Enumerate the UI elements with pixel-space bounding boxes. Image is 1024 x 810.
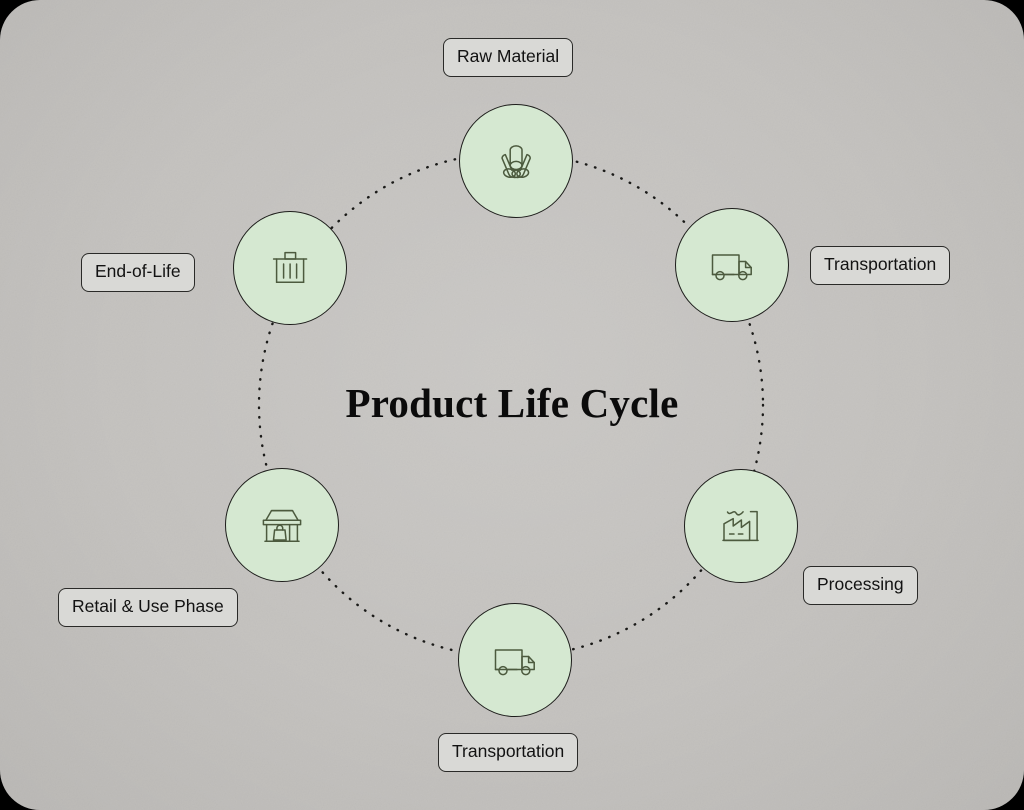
trash-icon	[261, 239, 319, 297]
node-raw-material[interactable]	[459, 104, 573, 218]
diagram-card: Product Life Cycle Raw Material	[0, 0, 1024, 810]
node-retail-use-phase[interactable]	[225, 468, 339, 582]
label-end-of-life: End-of-Life	[81, 253, 195, 292]
storefront-icon	[252, 495, 312, 555]
node-transportation-outbound[interactable]	[458, 603, 572, 717]
label-transportation-inbound: Transportation	[810, 246, 950, 285]
node-transportation-inbound[interactable]	[675, 208, 789, 322]
page-title: Product Life Cycle	[0, 381, 1024, 426]
node-processing[interactable]	[684, 469, 798, 583]
diagram-canvas: Product Life Cycle Raw Material	[0, 0, 1024, 810]
node-end-of-life[interactable]	[233, 211, 347, 325]
factory-icon	[712, 497, 770, 555]
label-raw-material: Raw Material	[443, 38, 573, 77]
logs-icon	[487, 132, 545, 190]
label-retail-use-phase: Retail & Use Phase	[58, 588, 238, 627]
truck-icon	[703, 236, 761, 294]
label-transportation-outbound: Transportation	[438, 733, 578, 772]
truck-icon	[486, 631, 544, 689]
label-processing: Processing	[803, 566, 918, 605]
